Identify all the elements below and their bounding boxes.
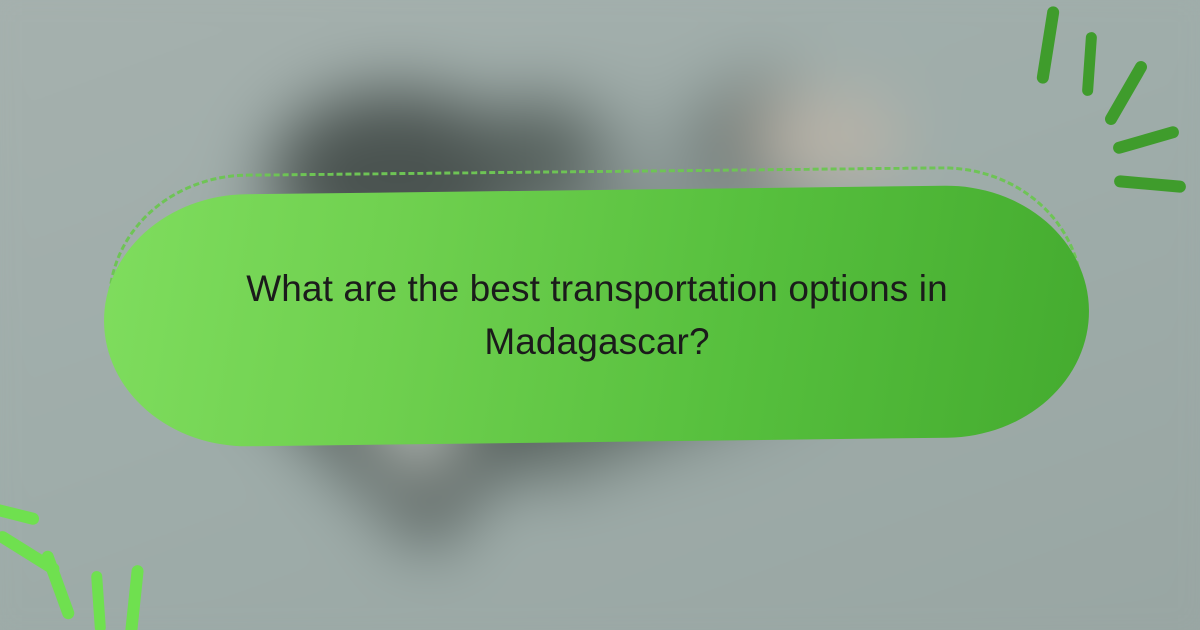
- sparkle-burst-icon-top-right: [1010, 0, 1200, 170]
- question-text: What are the best transportation options…: [207, 263, 987, 368]
- social-card: What are the best transportation options…: [0, 0, 1200, 630]
- burst-ray: [91, 571, 106, 630]
- burst-ray: [1036, 6, 1060, 85]
- question-banner: What are the best transportation options…: [102, 184, 1090, 448]
- burst-ray: [1103, 59, 1149, 127]
- sparkle-burst-icon-bottom-left: [0, 455, 190, 630]
- burst-ray: [0, 496, 40, 526]
- burst-ray: [124, 565, 144, 630]
- burst-ray: [1112, 125, 1181, 155]
- burst-ray: [40, 549, 76, 621]
- burst-ray: [1082, 32, 1097, 97]
